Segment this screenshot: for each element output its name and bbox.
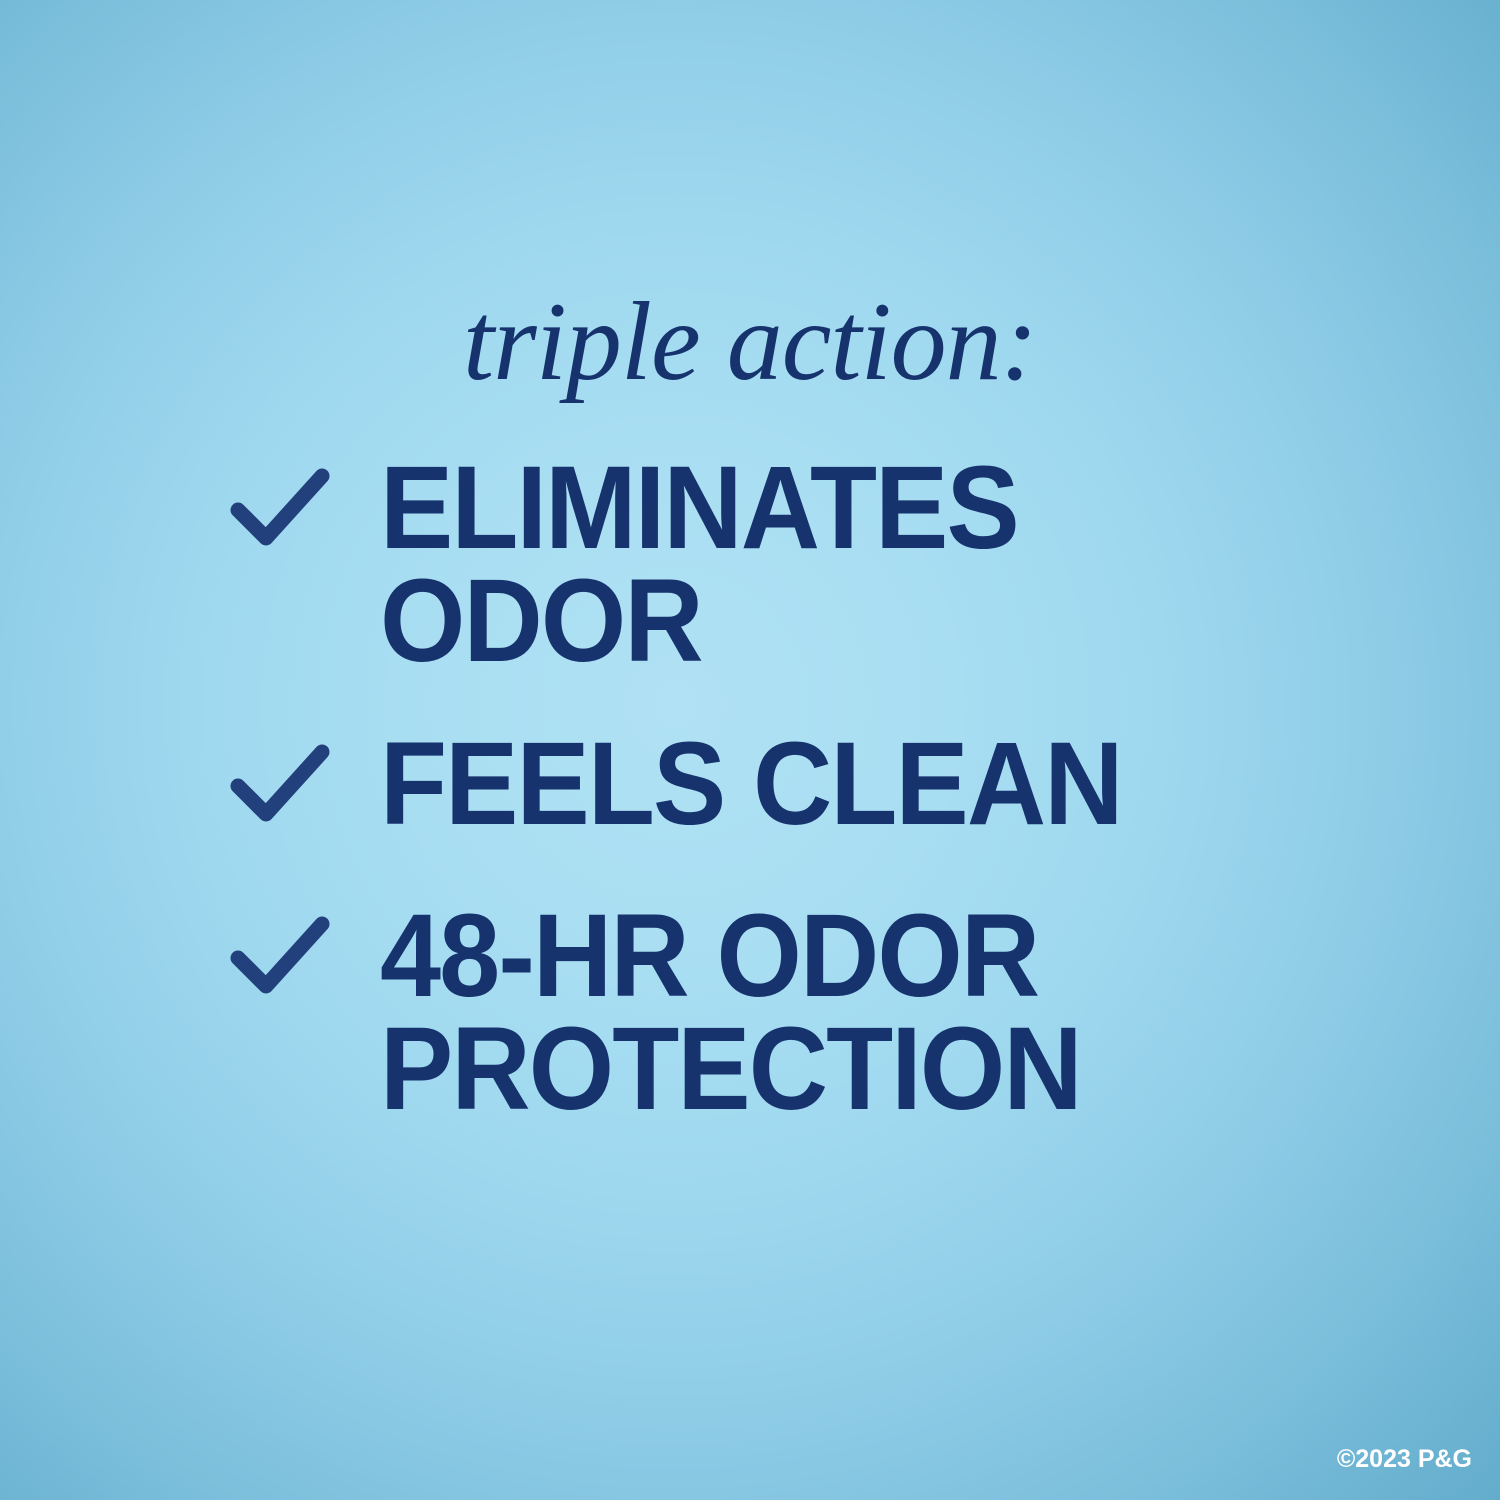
check-icon: [230, 900, 380, 1000]
list-item: ELIMINATES ODOR: [230, 452, 1066, 678]
check-icon: [230, 452, 380, 552]
benefits-list: ELIMINATES ODOR FEELS CLEAN 48-HR ODOR P…: [0, 0, 1500, 1500]
list-item-label: FEELS CLEAN: [380, 728, 1122, 841]
list-item-label: ELIMINATES ODOR: [380, 452, 1018, 678]
list-item: FEELS CLEAN: [230, 728, 1178, 841]
check-icon: [230, 728, 380, 828]
list-item-label: 48-HR ODOR PROTECTION: [380, 900, 1081, 1126]
product-benefits-graphic: triple action: ELIMINATES ODOR FEELS CLE…: [0, 0, 1500, 1500]
copyright-notice: ©2023 P&G: [1337, 1445, 1472, 1474]
list-item: 48-HR ODOR PROTECTION: [230, 900, 1134, 1126]
